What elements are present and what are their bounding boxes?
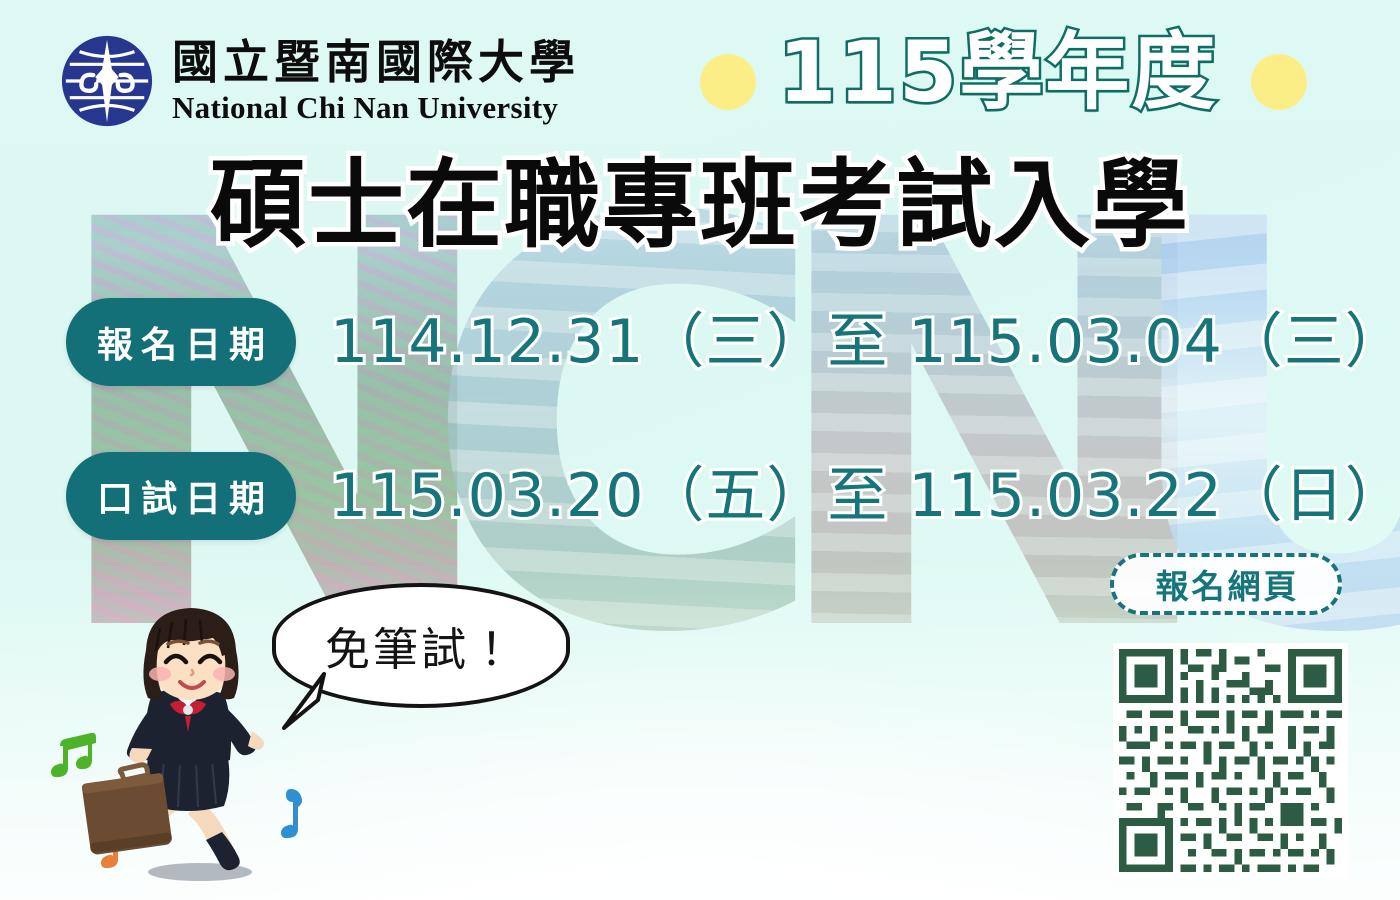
music-note-green [51,733,96,777]
oral-exam-date-value: 115.03.20（五）至 115.03.22（日） [330,466,1400,526]
registration-webpage-button[interactable]: 報名網頁 [1110,553,1342,615]
oral-exam-date-label: 口試日期 [66,452,296,540]
university-logo: 國立暨南國際大學 National Chi Nan University [58,32,580,130]
oral-exam-date-row: 口試日期 115.03.20（五）至 115.03.22（日） [66,452,1400,540]
university-name-block: 國立暨南國際大學 National Chi Nan University [172,39,580,123]
music-note-blue [281,789,302,838]
university-name-zh: 國立暨南國際大學 [172,39,580,85]
poster-canvas: N C N U [0,0,1400,900]
university-name-en: National Chi Nan University [172,92,580,123]
academic-year-badge: 115學年度 [778,28,1217,116]
running-student-illustration [48,600,328,890]
speech-bubble-text: 免筆試！ [325,613,517,678]
yellow-dot-left-icon [700,54,756,110]
page-title: 碩士在職專班考試入學 [0,157,1400,253]
registration-qr-code[interactable] [1113,643,1348,878]
ncnu-globe-emblem-icon [58,32,156,130]
application-date-value: 114.12.31（三）至 115.03.04（三） [330,312,1400,372]
yellow-dot-right-icon [1251,54,1307,110]
application-date-row: 報名日期 114.12.31（三）至 115.03.04（三） [66,298,1400,386]
application-date-label: 報名日期 [66,298,296,386]
